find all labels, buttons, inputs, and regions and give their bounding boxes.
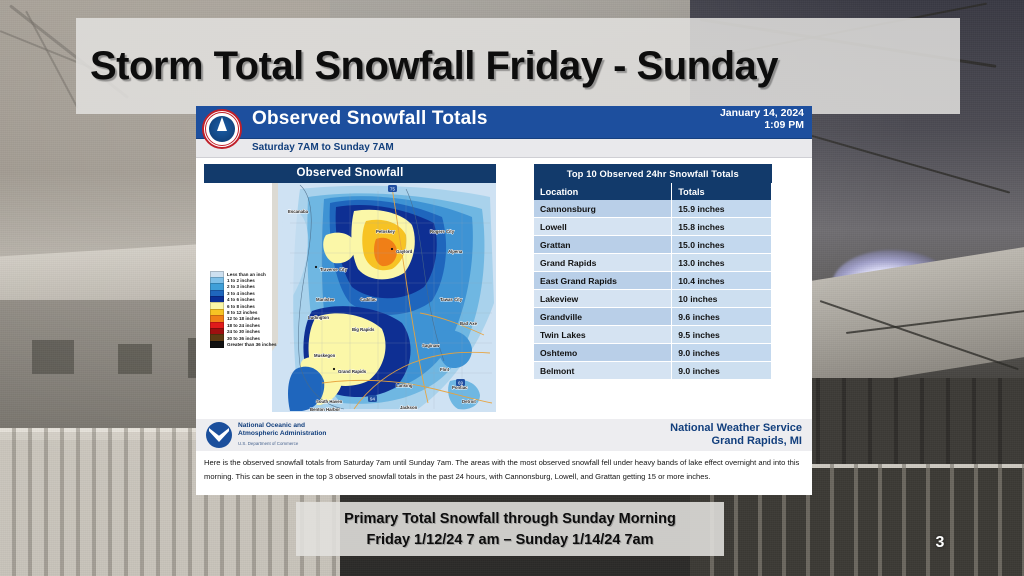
cell-total: 10.4 inches xyxy=(672,272,772,290)
caption-line-2: Friday 1/12/24 7 am – Sunday 1/14/24 7am xyxy=(367,532,654,548)
svg-text:Bad Axe: Bad Axe xyxy=(460,321,478,326)
cell-total: 9.5 inches xyxy=(672,326,772,344)
cell-location: Twin Lakes xyxy=(534,326,672,344)
office-line-2: Grand Rapids, MI xyxy=(670,435,802,448)
cell-total: 9.6 inches xyxy=(672,308,772,326)
legend-label: 24 to 30 inches xyxy=(227,329,260,334)
cell-total: 9.0 inches xyxy=(672,344,772,362)
table-row: Grand Rapids13.0 inches xyxy=(534,254,772,272)
legend-label: 12 to 18 inches xyxy=(227,316,260,321)
snowfall-totals-table: Top 10 Observed 24hr Snowfall Totals Loc… xyxy=(534,164,772,380)
legend-swatch-icon xyxy=(210,341,224,348)
legend-label: 30 to 36 inches xyxy=(227,336,260,341)
svg-text:Petoskey: Petoskey xyxy=(376,229,395,234)
legend-label: 3 to 4 inches xyxy=(227,291,255,296)
graphic-header: Observed Snowfall Totals January 14, 202… xyxy=(196,106,812,139)
legend-label: 8 to 12 inches xyxy=(227,310,257,315)
map-title: Observed Snowfall xyxy=(204,164,496,183)
svg-text:Detroit: Detroit xyxy=(462,399,476,404)
cell-total: 15.0 inches xyxy=(672,236,772,254)
svg-text:Benton Harbor: Benton Harbor xyxy=(310,407,340,412)
graphic-time: 1:09 PM xyxy=(720,119,804,131)
legend-label: Greater than 36 inches xyxy=(227,342,277,347)
graphic-title: Observed Snowfall Totals xyxy=(252,108,488,130)
cell-location: Lakeview xyxy=(534,290,672,308)
cell-location: Lowell xyxy=(534,218,672,236)
legend-label: Less than an inch xyxy=(227,272,266,277)
svg-text:75: 75 xyxy=(390,187,395,192)
table-col-totals: Totals xyxy=(672,183,772,200)
svg-text:Alpena: Alpena xyxy=(448,249,463,254)
weather-office-text: National Weather Service Grand Rapids, M… xyxy=(670,422,802,448)
cell-total: 15.9 inches xyxy=(672,200,772,218)
legend-label: 18 to 24 inches xyxy=(227,323,260,328)
svg-text:Jackson: Jackson xyxy=(400,405,418,410)
noaa-line-2: Atmospheric Administration xyxy=(238,430,326,438)
slide-title-banner: Storm Total Snowfall Friday - Sunday xyxy=(76,18,960,114)
svg-text:Rogers City: Rogers City xyxy=(430,229,455,234)
svg-text:Cadillac: Cadillac xyxy=(360,297,377,302)
table-col-location: Location xyxy=(534,183,672,200)
cell-location: Oshtemo xyxy=(534,344,672,362)
graphic-date: January 14, 2024 xyxy=(720,107,804,119)
svg-text:Ludington: Ludington xyxy=(308,315,329,320)
graphic-subtitle: Saturday 7AM to Sunday 7AM xyxy=(252,142,394,153)
graphic-footer-bar: National Oceanic and Atmospheric Adminis… xyxy=(196,419,812,451)
svg-text:Gaylord: Gaylord xyxy=(396,249,413,254)
svg-text:South Haven: South Haven xyxy=(316,399,343,404)
table-row: Grandville9.6 inches xyxy=(534,308,772,326)
cell-location: East Grand Rapids xyxy=(534,272,672,290)
svg-text:Grand Rapids: Grand Rapids xyxy=(338,369,367,374)
table-row: Cannonsburg15.9 inches xyxy=(534,200,772,218)
caption-line-1: Primary Total Snowfall through Sunday Mo… xyxy=(344,511,676,527)
slide-caption-banner: Primary Total Snowfall through Sunday Mo… xyxy=(296,502,724,556)
map-legend: Less than an inch 1 to 2 inches 2 to 3 i… xyxy=(210,271,298,348)
cell-total: 13.0 inches xyxy=(672,254,772,272)
page-number: 3 xyxy=(928,534,952,552)
table-row: East Grand Rapids10.4 inches xyxy=(534,272,772,290)
snowfall-map-block: Observed Snowfall xyxy=(204,164,496,412)
office-line-1: National Weather Service xyxy=(670,422,802,435)
svg-text:Big Rapids: Big Rapids xyxy=(352,327,375,332)
table-row: Belmont9.0 inches xyxy=(534,362,772,380)
national-weather-service-seal-icon xyxy=(202,109,242,149)
table-row: Grattan15.0 inches xyxy=(534,236,772,254)
graphic-discussion-text: Here is the observed snowfall totals fro… xyxy=(204,456,804,483)
noaa-line-3: U.S. Department of Commerce xyxy=(238,440,326,448)
cell-total: 10 inches xyxy=(672,290,772,308)
noaa-logo-icon xyxy=(206,422,232,448)
svg-text:Traverse City: Traverse City xyxy=(320,267,348,272)
table-caption: Top 10 Observed 24hr Snowfall Totals xyxy=(534,164,772,183)
graphic-subtitle-bar: Saturday 7AM to Sunday 7AM xyxy=(196,139,812,158)
table-row: Oshtemo9.0 inches xyxy=(534,344,772,362)
slide-canvas: Storm Total Snowfall Friday - Sunday Obs… xyxy=(0,0,1024,576)
snowfall-totals-table-block: Top 10 Observed 24hr Snowfall Totals Loc… xyxy=(534,164,772,380)
svg-text:94: 94 xyxy=(370,397,375,402)
cell-total: 9.0 inches xyxy=(672,362,772,380)
svg-text:Manistee: Manistee xyxy=(316,297,335,302)
cell-location: Belmont xyxy=(534,362,672,380)
table-row: Lowell15.8 inches xyxy=(534,218,772,236)
page-title: Storm Total Snowfall Friday - Sunday xyxy=(90,44,778,89)
noaa-line-1: National Oceanic and xyxy=(238,422,326,430)
legend-label: 2 to 3 inches xyxy=(227,284,255,289)
svg-text:Flint: Flint xyxy=(440,367,450,372)
cell-location: Grand Rapids xyxy=(534,254,672,272)
legend-label: 6 to 8 inches xyxy=(227,304,255,309)
snowfall-map: 75 94 69 Escanaba Petoskey Gaylord Roger… xyxy=(204,183,496,412)
cell-location: Cannonsburg xyxy=(534,200,672,218)
nws-graphic-panel: Observed Snowfall Totals January 14, 202… xyxy=(196,106,812,495)
cell-location: Grattan xyxy=(534,236,672,254)
graphic-datetime: January 14, 2024 1:09 PM xyxy=(720,107,804,131)
svg-text:Muskegon: Muskegon xyxy=(314,353,336,358)
house-window-2 xyxy=(118,344,152,374)
noaa-agency-text: National Oceanic and Atmospheric Adminis… xyxy=(238,422,326,448)
svg-text:Escanaba: Escanaba xyxy=(288,209,309,214)
legend-item: Greater than 36 inches xyxy=(210,341,298,347)
table-row: Twin Lakes9.5 inches xyxy=(534,326,772,344)
svg-text:Lansing: Lansing xyxy=(396,383,413,388)
table-row: Lakeview10 inches xyxy=(534,290,772,308)
legend-label: 4 to 6 inches xyxy=(227,297,255,302)
svg-text:Tawas City: Tawas City xyxy=(440,297,463,302)
cell-total: 15.8 inches xyxy=(672,218,772,236)
legend-label: 1 to 2 inches xyxy=(227,278,255,283)
house-window-1 xyxy=(32,340,74,374)
svg-text:Pontiac: Pontiac xyxy=(452,385,468,390)
cell-location: Grandville xyxy=(534,308,672,326)
svg-text:Saginaw: Saginaw xyxy=(422,343,440,348)
